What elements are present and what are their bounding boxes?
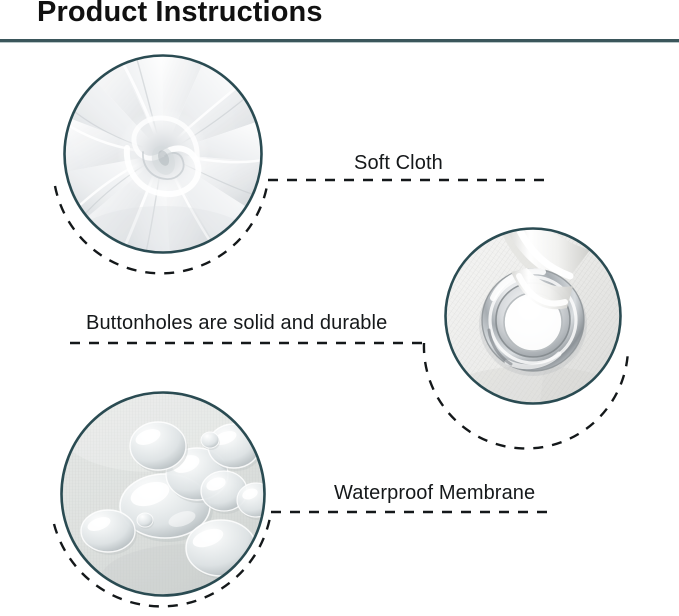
metal-grommet-eyelet-photo — [446, 229, 620, 418]
feature-circle-buttonholes — [424, 229, 628, 449]
feature-circle-soft-cloth — [55, 52, 268, 286]
feature-label-buttonholes: Buttonholes are solid and durable — [86, 312, 387, 335]
feature-circle-waterproof-membrane — [54, 388, 280, 616]
diagram-canvas — [0, 0, 679, 616]
feature-label-waterproof-membrane: Waterproof Membrane — [334, 482, 535, 505]
feature-label-soft-cloth: Soft Cloth — [354, 152, 443, 175]
product-instructions-infographic: Product Instructions — [0, 0, 679, 616]
